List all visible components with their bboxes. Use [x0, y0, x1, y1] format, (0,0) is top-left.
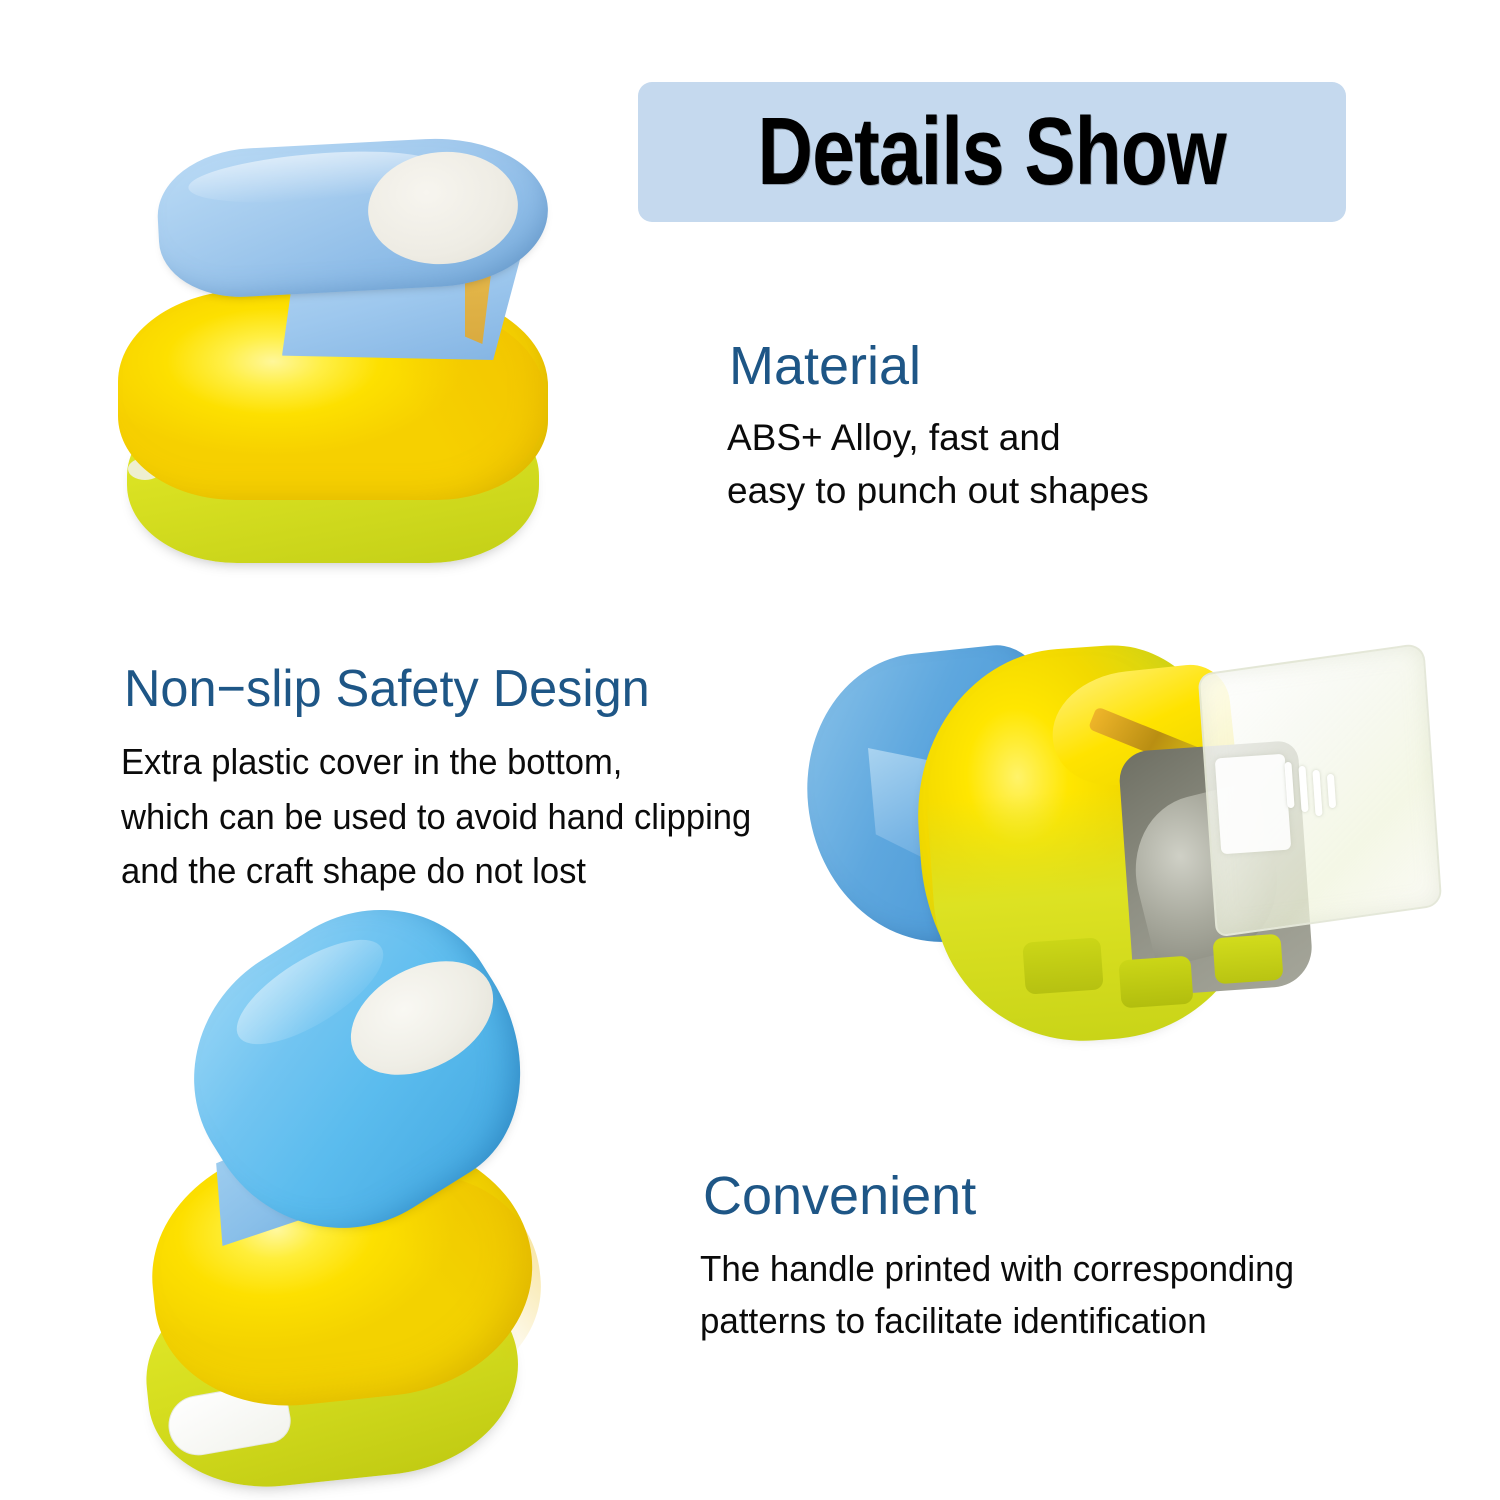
- product-photo-bottom-left: [140, 930, 550, 1500]
- section-body-non-slip-safety-design: Extra plastic cover in the bottom, which…: [121, 735, 751, 899]
- section-heading-non-slip-safety-design: Non−slip Safety Design: [124, 662, 650, 717]
- punch-base-foot: [1212, 934, 1283, 985]
- section-body-convenient: The handle printed with corresponding pa…: [700, 1243, 1294, 1347]
- section-body-line: ABS+ Alloy, fast and: [727, 412, 1149, 465]
- product-photo-top-left: [110, 140, 570, 580]
- page-title: Details Show: [758, 104, 1226, 200]
- product-photo-mid-right: [800, 640, 1440, 1050]
- section-body-line: Extra plastic cover in the bottom,: [121, 735, 751, 790]
- section-heading-material: Material: [729, 338, 921, 395]
- section-body-line: which can be used to avoid hand clipping: [121, 790, 751, 845]
- section-heading-convenient: Convenient: [703, 1168, 976, 1225]
- infographic-page: Details Show: [0, 0, 1500, 1500]
- details-show-banner: Details Show: [638, 82, 1346, 222]
- punch-cover-tab: [1215, 754, 1292, 855]
- punch-base-foot: [1118, 956, 1193, 1009]
- section-body-line: The handle printed with corresponding: [700, 1243, 1294, 1295]
- section-body-line: patterns to facilitate identification: [700, 1295, 1294, 1347]
- punch-base-foot: [1022, 937, 1103, 994]
- section-body-line: and the craft shape do not lost: [121, 844, 751, 899]
- section-body-material: ABS+ Alloy, fast and easy to punch out s…: [727, 412, 1149, 517]
- section-body-line: easy to punch out shapes: [727, 465, 1149, 518]
